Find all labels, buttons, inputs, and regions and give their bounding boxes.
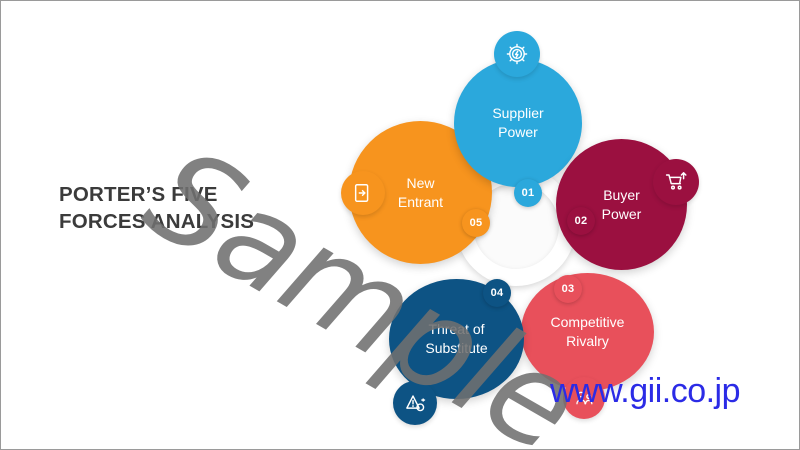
force-label-threat-of-substitute: Threat of Substitute bbox=[425, 320, 487, 358]
url-watermark: www.gii.co.jp bbox=[550, 372, 740, 411]
force-badge-02-label: 02 bbox=[575, 215, 588, 227]
gear-energy-icon bbox=[494, 31, 540, 77]
force-badge-05[interactable]: 05 bbox=[462, 209, 490, 237]
force-label-new-entrant: New Entrant bbox=[398, 174, 443, 212]
page-title: PORTER’S FIVE FORCES ANALYSIS bbox=[59, 181, 289, 235]
force-badge-03-label: 03 bbox=[562, 283, 575, 295]
force-label-buyer-power: Buyer Power bbox=[602, 186, 642, 224]
door-entry-icon bbox=[341, 171, 385, 215]
force-badge-01-label: 01 bbox=[522, 187, 535, 199]
force-badge-04[interactable]: 04 bbox=[483, 279, 511, 307]
force-badge-04-label: 04 bbox=[491, 287, 504, 299]
force-circle-supplier-power[interactable]: Supplier Power bbox=[454, 59, 582, 187]
force-badge-03[interactable]: 03 bbox=[554, 275, 582, 303]
force-label-supplier-power: Supplier Power bbox=[492, 104, 543, 142]
force-circle-buyer-power[interactable]: Buyer Power bbox=[556, 139, 687, 270]
force-badge-01[interactable]: 01 bbox=[514, 179, 542, 207]
force-badge-02[interactable]: 02 bbox=[567, 207, 595, 235]
force-label-competitive-rivalry: Competitive Rivalry bbox=[551, 313, 625, 351]
slide-canvas: PORTER’S FIVE FORCES ANALYSIS New Entran… bbox=[0, 0, 800, 450]
force-badge-05-label: 05 bbox=[470, 217, 483, 229]
shopping-cart-icon bbox=[653, 159, 699, 205]
hazard-warning-icon bbox=[393, 381, 437, 425]
